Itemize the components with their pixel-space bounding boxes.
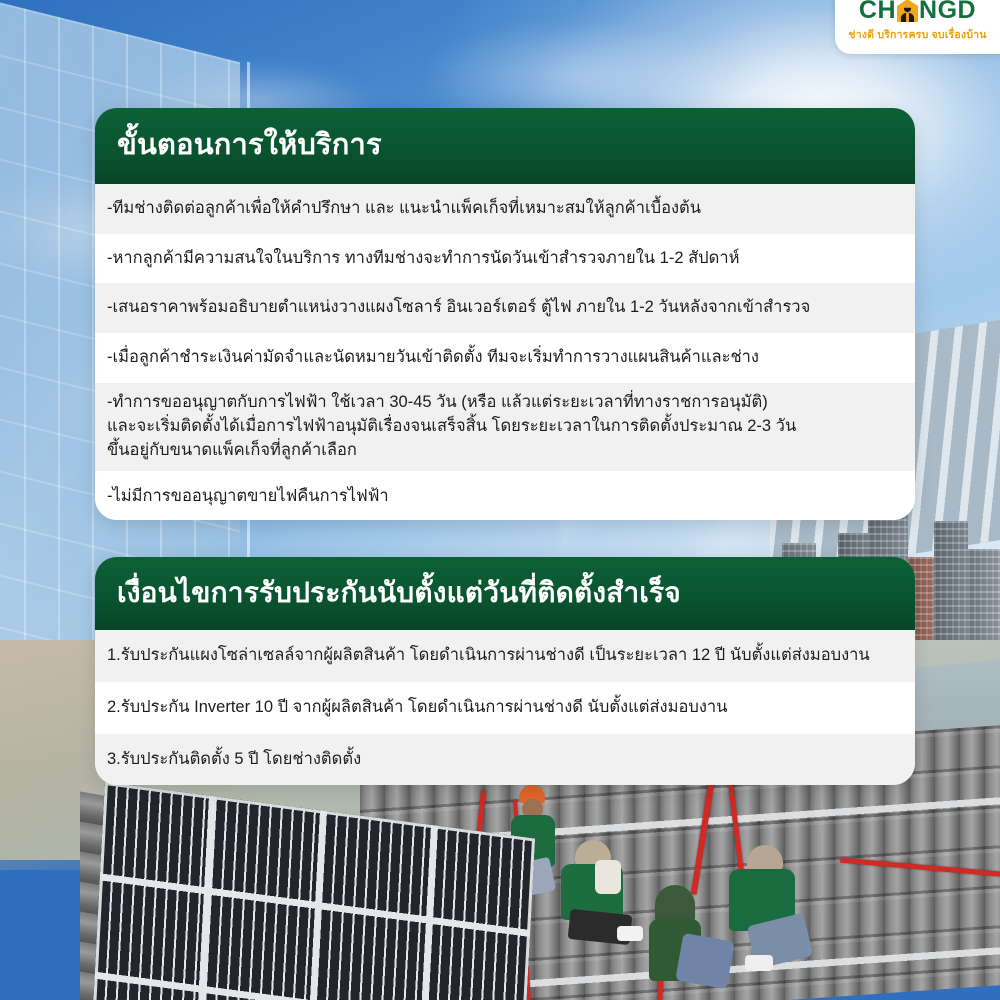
service-step-row: -เมื่อลูกค้าชำระเงินค่ามัดจำและนัดหมายวั… <box>95 333 915 383</box>
service-card-header: ขั้นตอนการให้บริการ <box>95 108 915 184</box>
house-with-worker-icon <box>897 0 918 22</box>
worker-towel <box>595 860 621 894</box>
service-step-text: -ไม่มีการขออนุญาตขายไฟคืนการไฟฟ้า <box>107 485 389 509</box>
logo-text-part1: CH <box>859 0 896 23</box>
poster-canvas: CH NGD ช่างดี บริการครบ จบเรื่องบ้าน ขั้… <box>0 0 1000 1000</box>
service-step-text: -เสนอราคาพร้อมอธิบายตำแหน่งวางแผงโซลาร์ … <box>107 296 810 320</box>
warranty-card: เงื่อนไขการรับประกันนับตั้งแต่วันที่ติดต… <box>95 557 915 785</box>
service-step-row: -ทีมช่างติดต่อลูกค้าเพื่อให้คำปรึกษา และ… <box>95 184 915 234</box>
service-step-text: -เมื่อลูกค้าชำระเงินค่ามัดจำและนัดหมายวั… <box>107 346 759 370</box>
service-step-text: -หากลูกค้ามีความสนใจในบริการ ทางทีมช่างจ… <box>107 247 739 271</box>
service-card-title: ขั้นตอนการให้บริการ <box>117 130 382 162</box>
service-step-row: -ไม่มีการขออนุญาตขายไฟคืนการไฟฟ้า <box>95 471 915 520</box>
service-step-row: -เสนอราคาพร้อมอธิบายตำแหน่งวางแผงโซลาร์ … <box>95 283 915 333</box>
warranty-item-row: 2.รับประกัน Inverter 10 ปี จากผู้ผลิตสิน… <box>95 682 915 734</box>
logo-tagline: ช่างดี บริการครบ จบเรื่องบ้าน <box>848 26 986 43</box>
worker-shoe <box>617 926 643 941</box>
worker-figure <box>645 885 735 1000</box>
warranty-item-row: 3.รับประกันติดตั้ง 5 ปี โดยช่างติดตั้ง <box>95 734 915 785</box>
logo-tagline-slogan: บริการครบ จบเรื่องบ้าน <box>877 29 986 41</box>
service-steps-card: ขั้นตอนการให้บริการ -ทีมช่างติดต่อลูกค้า… <box>95 108 915 520</box>
brand-logo[interactable]: CH NGD ช่างดี บริการครบ จบเรื่องบ้าน <box>835 0 1000 54</box>
logo-tagline-brand: ช่างดี <box>848 29 874 41</box>
warranty-item-text: 2.รับประกัน Inverter 10 ปี จากผู้ผลิตสิน… <box>107 696 727 720</box>
service-step-text: -ทำการขออนุญาตกับการไฟฟ้า ใช้เวลา 30-45 … <box>107 391 796 463</box>
service-card-body: -ทีมช่างติดต่อลูกค้าเพื่อให้คำปรึกษา และ… <box>95 184 915 520</box>
service-step-row: -หากลูกค้ามีความสนใจในบริการ ทางทีมช่างจ… <box>95 234 915 283</box>
building <box>934 521 968 653</box>
service-step-row: -ทำการขออนุญาตกับการไฟฟ้า ใช้เวลา 30-45 … <box>95 383 915 471</box>
warranty-item-text: 1.รับประกันแผงโซล่าเซลล์จากผู้ผลิตสินค้า… <box>107 644 870 668</box>
service-step-text: -ทีมช่างติดต่อลูกค้าเพื่อให้คำปรึกษา และ… <box>107 197 701 221</box>
logo-text-part2: NGD <box>919 0 976 23</box>
warranty-card-header: เงื่อนไขการรับประกันนับตั้งแต่วันที่ติดต… <box>95 557 915 630</box>
worker-cap-icon <box>747 845 783 871</box>
worker-shoe <box>745 955 773 971</box>
warranty-item-row: 1.รับประกันแผงโซล่าเซลล์จากผู้ผลิตสินค้า… <box>95 630 915 682</box>
warranty-item-text: 3.รับประกันติดตั้ง 5 ปี โดยช่างติดตั้ง <box>107 748 361 772</box>
logo-wordmark: CH NGD <box>859 0 976 23</box>
worker-figure <box>555 840 655 960</box>
warranty-card-body: 1.รับประกันแผงโซล่าเซลล์จากผู้ผลิตสินค้า… <box>95 630 915 785</box>
warranty-card-title: เงื่อนไขการรับประกันนับตั้งแต่วันที่ติดต… <box>117 578 681 609</box>
worker-figure <box>725 845 825 975</box>
